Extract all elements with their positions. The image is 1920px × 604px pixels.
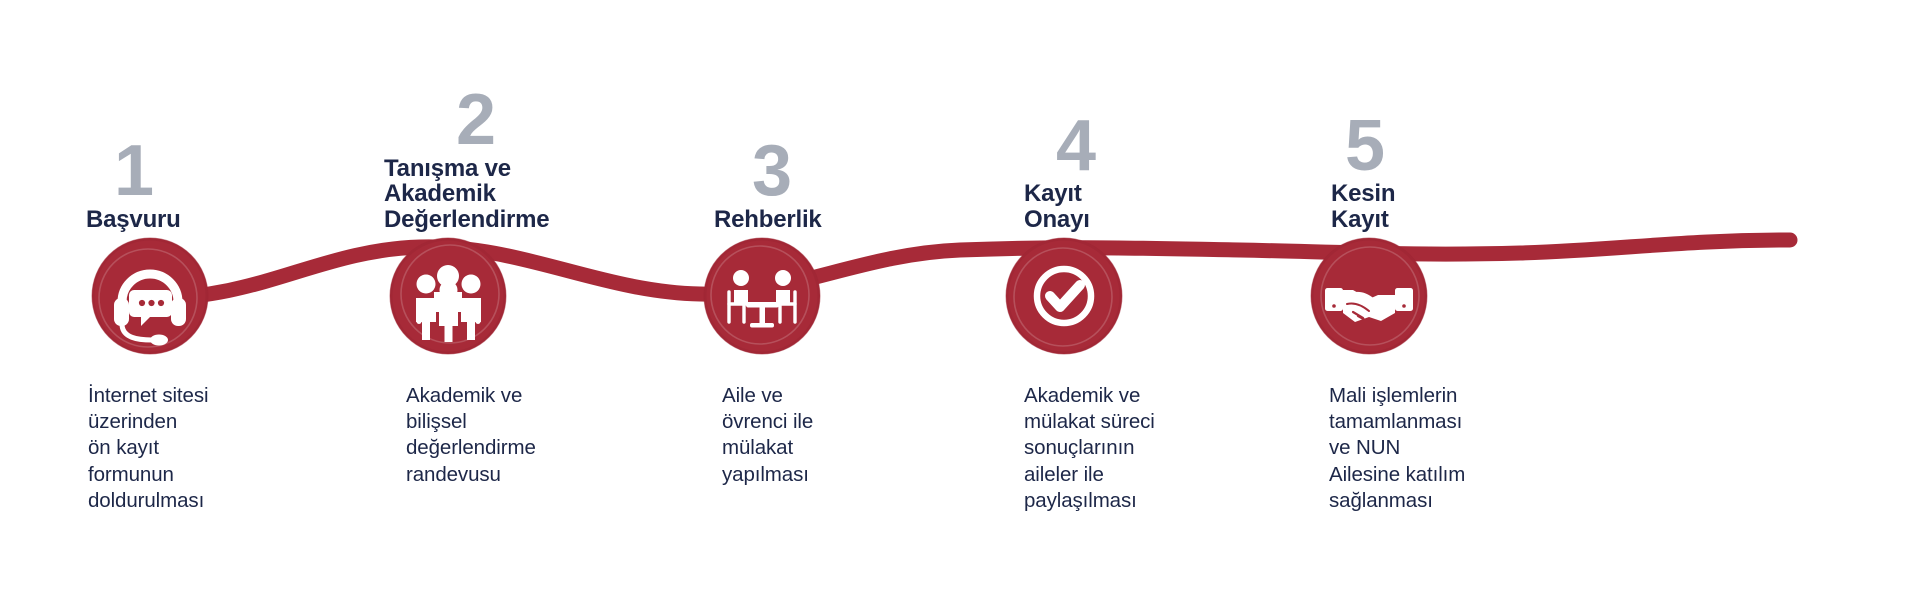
handshake-icon <box>1305 232 1433 360</box>
process-step-5: 5 Kesin Kayıt <box>1305 0 1605 604</box>
step-1-number: 1 <box>114 138 153 204</box>
step-3-header: 3 Rehberlik <box>698 138 998 232</box>
group-people-icon <box>384 232 512 360</box>
step-5-badge <box>1305 232 1433 360</box>
process-step-4: 4 Kayıt Onayı Akademik ve mülakat süreci… <box>1000 0 1300 604</box>
step-4-number: 4 <box>1056 113 1095 179</box>
step-1-badge <box>86 232 214 360</box>
step-4-header: 4 Kayıt Onayı <box>1000 113 1300 232</box>
headset-support-icon <box>86 232 214 360</box>
step-1-header: 1 Başvuru <box>86 138 386 232</box>
step-2-number: 2 <box>456 87 495 153</box>
process-step-3: 3 Rehberlik <box>698 0 998 604</box>
step-3-description: Aile ve övrenci ile mülakat yapılması <box>722 383 972 488</box>
step-5-number: 5 <box>1345 113 1384 179</box>
process-step-2: 2 Tanışma ve Akademik Değerlendirme <box>384 0 684 604</box>
step-4-title: Kayıt Onayı <box>1024 181 1090 232</box>
step-5-description: Mali işlemlerin tamamlanması ve NUN Aile… <box>1329 383 1579 514</box>
step-2-badge <box>384 232 512 360</box>
step-3-title: Rehberlik <box>714 207 822 232</box>
meeting-table-icon <box>698 232 826 360</box>
check-circle-icon <box>1000 232 1128 360</box>
step-2-title: Tanışma ve Akademik Değerlendirme <box>384 156 549 232</box>
step-3-badge <box>698 232 826 360</box>
step-4-badge <box>1000 232 1128 360</box>
step-2-description: Akademik ve bilişsel değerlendirme rande… <box>406 383 656 488</box>
step-1-title: Başvuru <box>86 207 181 232</box>
step-5-header: 5 Kesin Kayıt <box>1305 113 1605 232</box>
step-1-description: İnternet sitesi üzerinden ön kayıt formu… <box>88 383 338 514</box>
step-4-description: Akademik ve mülakat süreci sonuçlarının … <box>1024 383 1274 514</box>
step-2-header: 2 Tanışma ve Akademik Değerlendirme <box>384 87 684 232</box>
process-infographic: 1 Başvuru <box>0 0 1920 604</box>
process-step-1: 1 Başvuru <box>86 0 386 604</box>
step-5-title: Kesin Kayıt <box>1331 181 1395 232</box>
steps-row: 1 Başvuru <box>0 0 1920 604</box>
step-3-number: 3 <box>752 138 791 204</box>
